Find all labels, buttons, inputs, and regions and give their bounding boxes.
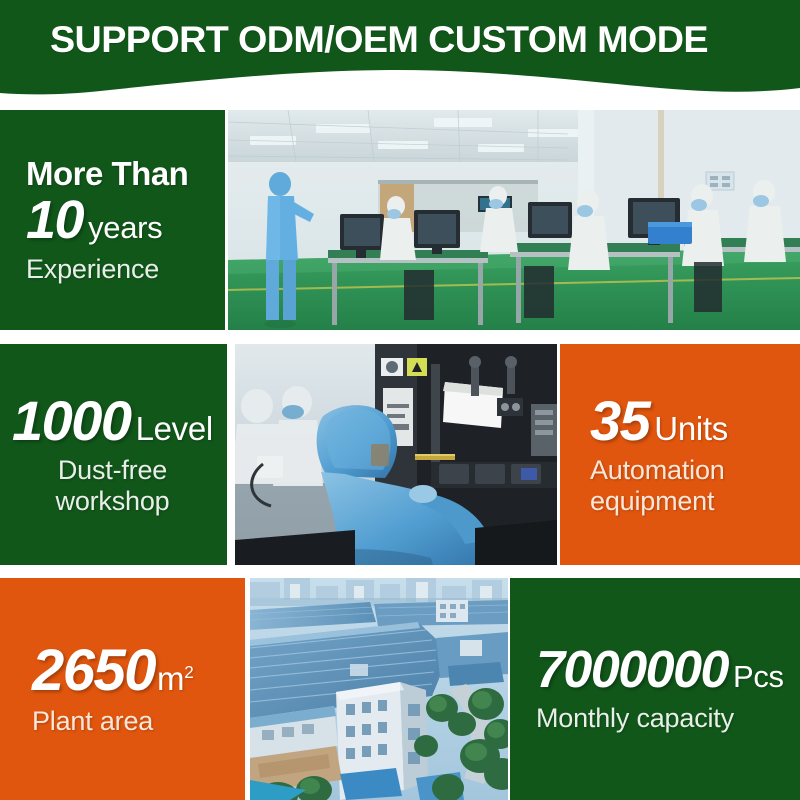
- stats-row-2: 1000 Level Dust-free workshop: [0, 344, 800, 565]
- card-experience-content: More Than 10 years Experience: [0, 110, 225, 330]
- card-dustfree-unit: Level: [136, 412, 213, 446]
- card-automation-subtitle-line-2: equipment: [590, 486, 725, 517]
- card-experience-number: 10: [26, 193, 83, 248]
- card-automation-subtitle: Automation equipment: [590, 455, 725, 517]
- card-capacity-number: 7000000: [536, 644, 728, 697]
- card-capacity[interactable]: 7000000 Pcs Monthly capacity: [510, 578, 800, 800]
- card-experience-unit: years: [88, 212, 162, 244]
- photo-inspection-machine-image: [235, 344, 557, 565]
- card-experience[interactable]: More Than 10 years Experience: [0, 110, 225, 330]
- card-dustfree-subtitle-line-1: Dust-free: [12, 455, 213, 486]
- card-dustfree-subtitle: Dust-free workshop: [12, 455, 213, 517]
- card-plantarea-unit-superscript: 2: [184, 662, 194, 682]
- card-capacity-subtitle: Monthly capacity: [536, 703, 734, 734]
- photo-inspection-machine[interactable]: [235, 344, 557, 565]
- infographic-page: SUPPORT ODM/OEM CUSTOM MODE More Than 10…: [0, 0, 800, 800]
- card-dustfree-content: 1000 Level Dust-free workshop: [0, 344, 227, 565]
- card-capacity-content: 7000000 Pcs Monthly capacity: [510, 578, 800, 800]
- card-automation-unit: Units: [654, 412, 728, 446]
- card-plantarea-subtitle: Plant area: [32, 706, 231, 737]
- card-automation-main: 35 Units: [590, 392, 728, 449]
- photo-cleanroom-line-image: [228, 110, 800, 330]
- card-dustfree[interactable]: 1000 Level Dust-free workshop: [0, 344, 227, 565]
- stats-row-3: 2650 m2 Plant area: [0, 578, 800, 800]
- card-automation-number: 35: [590, 392, 649, 449]
- card-plantarea-main: 2650 m2: [32, 641, 231, 700]
- card-automation-subtitle-line-1: Automation: [590, 455, 725, 486]
- header-banner: SUPPORT ODM/OEM CUSTOM MODE: [0, 0, 800, 100]
- card-plantarea-number: 2650: [32, 641, 155, 700]
- card-dustfree-subtitle-line-2: workshop: [12, 486, 213, 517]
- card-plantarea-unit-base: m: [157, 660, 184, 697]
- card-capacity-main: 7000000 Pcs: [536, 644, 784, 697]
- stats-row-1: More Than 10 years Experience: [0, 110, 800, 330]
- page-title: SUPPORT ODM/OEM CUSTOM MODE: [50, 18, 784, 62]
- card-automation-content: 35 Units Automation equipment: [560, 344, 800, 565]
- card-dustfree-main: 1000 Level: [12, 392, 213, 449]
- card-capacity-unit: Pcs: [733, 661, 784, 693]
- card-experience-main: 10 years: [26, 193, 211, 248]
- card-plantarea-unit: m2: [157, 662, 194, 696]
- card-experience-prefix: More Than: [26, 155, 211, 193]
- photo-cleanroom-line[interactable]: [228, 110, 800, 330]
- card-plantarea-content: 2650 m2 Plant area: [0, 578, 245, 800]
- card-automation[interactable]: 35 Units Automation equipment: [560, 344, 800, 565]
- photo-factory-aerial[interactable]: [250, 578, 508, 800]
- card-plantarea[interactable]: 2650 m2 Plant area: [0, 578, 245, 800]
- photo-factory-aerial-image: [250, 578, 508, 800]
- card-experience-subtitle: Experience: [26, 254, 211, 285]
- card-dustfree-number: 1000: [12, 392, 131, 449]
